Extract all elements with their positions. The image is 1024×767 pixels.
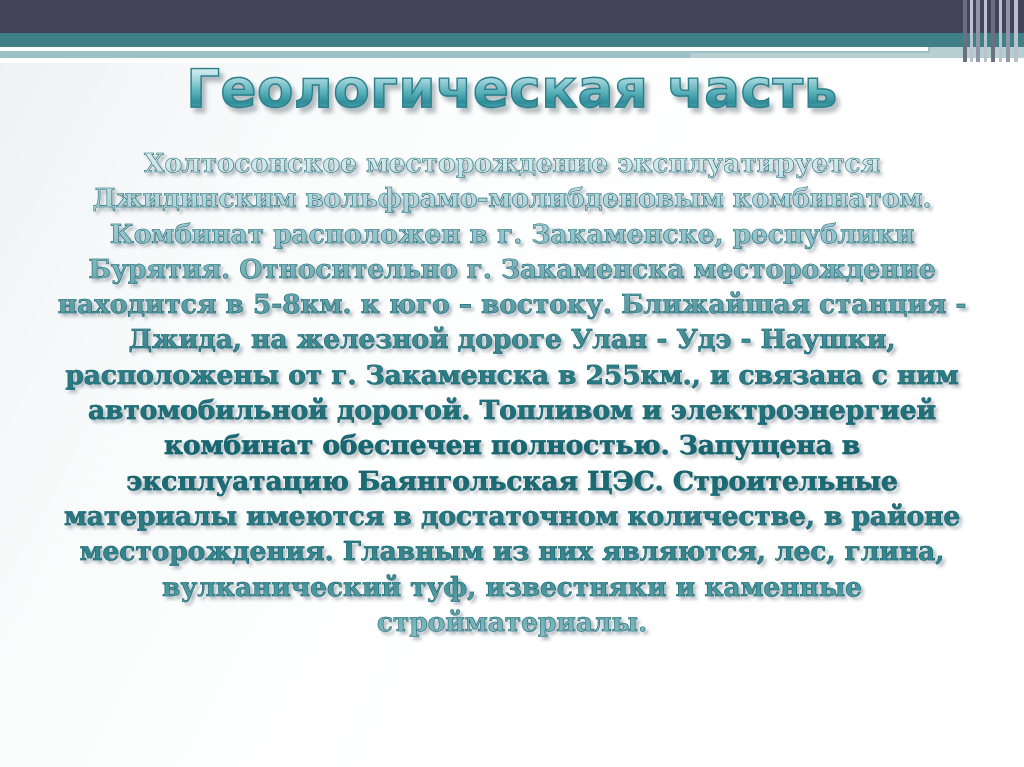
banner-navy-band (0, 0, 1024, 33)
banner-stripe-6 (999, 0, 1002, 62)
slide-title: Геологическая часть (186, 62, 837, 118)
slide-title-container: Геологическая часть (0, 62, 1024, 118)
banner-stripe-4 (984, 0, 987, 62)
slide-body-container: Холтосонское месторождение эксплуатирует… (50, 146, 974, 640)
banner-white-rule-upper (0, 47, 928, 51)
banner-stripe-5 (991, 0, 995, 62)
banner-teal-band (0, 33, 930, 47)
banner-stripe-1 (963, 0, 967, 62)
banner-stripe-2 (970, 0, 973, 62)
slide-body-text: Холтосонское месторождение эксплуатирует… (50, 146, 974, 640)
banner-stripe-8 (1014, 0, 1018, 62)
banner-stripe-7 (1006, 0, 1010, 62)
presentation-slide: Геологическая часть Холтосонское месторо… (0, 0, 1024, 767)
banner-stripe-3 (976, 0, 980, 62)
header-banner (0, 0, 1024, 62)
